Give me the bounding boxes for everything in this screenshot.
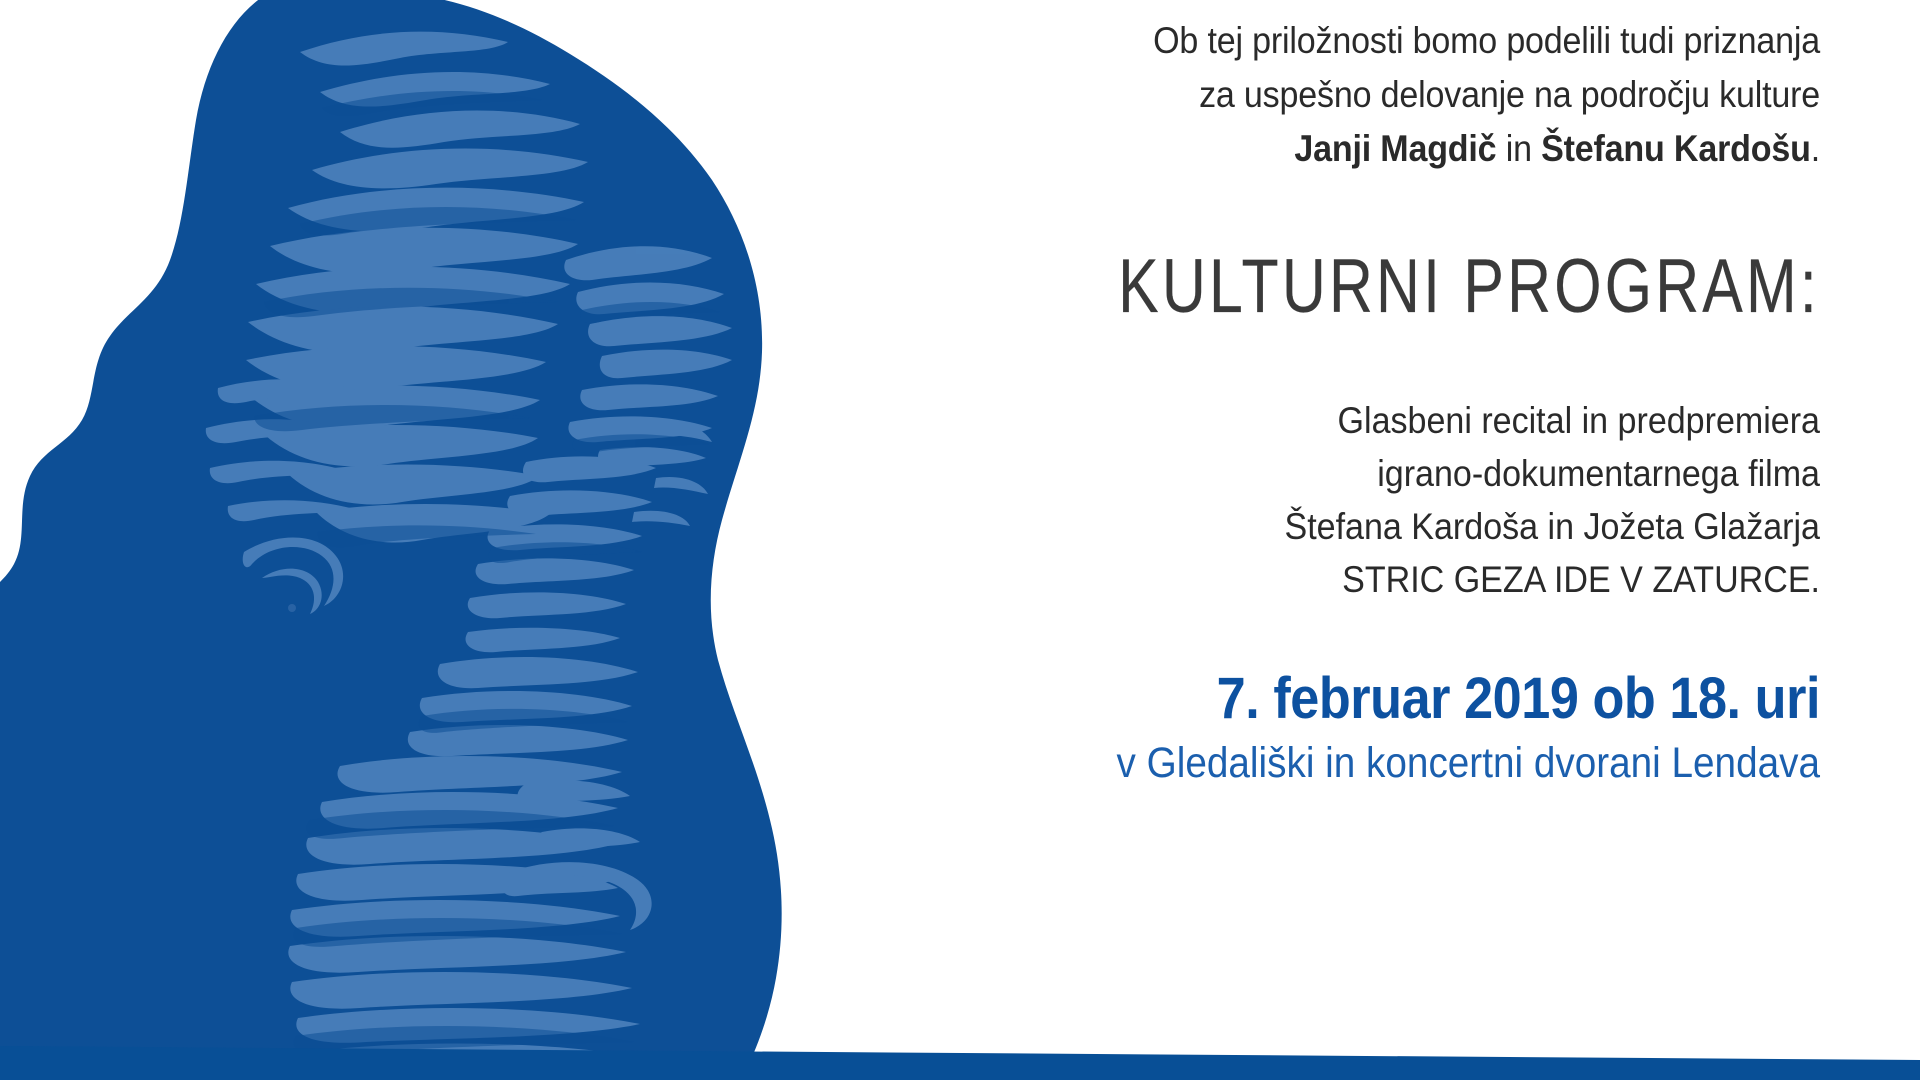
bottom-accent-bar [0,1046,1920,1080]
event-datetime: 7. februar 2019 ob 18. uri [803,668,1820,730]
poster-text-column: Ob tej priložnosti bomo podelili tudi pr… [690,0,1820,788]
recipient-name-1: Janji Magdič [1294,128,1496,169]
recipients-conjunction: in [1496,128,1541,169]
program-line-1: Glasbeni recital in predpremiera [780,394,1820,447]
event-venue: v Gledališki in koncertni dvorani Lendav… [803,738,1820,788]
recipient-name-2: Štefanu Kardošu [1541,128,1811,169]
program-heading: KULTURNI PROGRAM: [916,244,1820,330]
recipients-period: . [1811,128,1820,169]
poster-canvas: Ob tej priložnosti bomo podelili tudi pr… [0,0,1920,1080]
program-line-2: igrano-dokumentarnega filma [780,447,1820,500]
award-paragraph: Ob tej priložnosti bomo podelili tudi pr… [690,14,1820,176]
award-recipients-line: Janji Magdič in Štefanu Kardošu. [780,122,1820,176]
program-line-3: Štefana Kardoša in Jožeta Glažarja [780,500,1820,553]
award-line-2: za uspešno delovanje na področju kulture [780,68,1820,122]
program-details: Glasbeni recital in predpremiera igrano-… [690,394,1820,606]
program-line-4-film-title: STRIC GEZA IDE V ZATURCE. [780,553,1820,606]
award-line-1: Ob tej priložnosti bomo podelili tudi pr… [780,14,1820,68]
